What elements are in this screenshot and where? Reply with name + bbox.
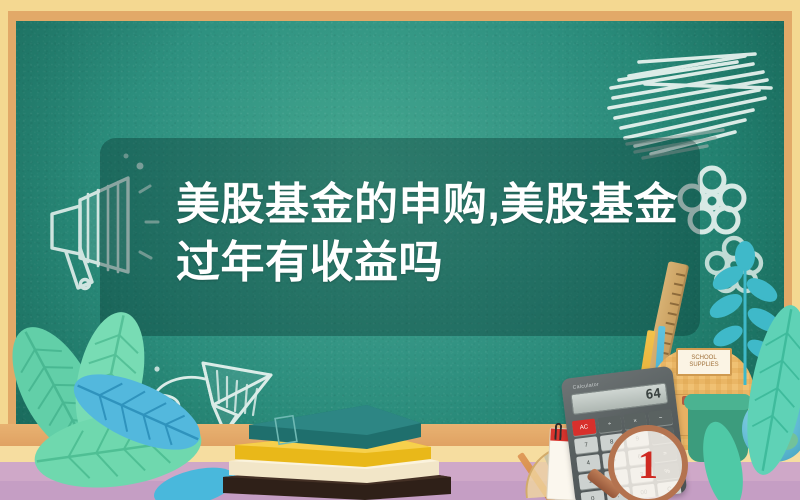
leaf-icon — [688, 420, 758, 500]
calculator-display-value: 64 — [645, 386, 662, 403]
calculator-key[interactable]: 0 — [581, 490, 605, 500]
magnifier-lens: 1 — [608, 425, 688, 500]
calculator-key[interactable]: AC — [572, 418, 596, 436]
page-title: 美股基金的申购,美股基金 过年有收益吗 — [176, 176, 696, 292]
magnifier-number: 1 — [638, 445, 658, 485]
stacked-books-icon — [215, 395, 455, 500]
calculator-brand: Calculator — [572, 382, 599, 391]
magnifier-icon: 1 — [608, 425, 688, 500]
calculator-key[interactable]: 7 — [574, 436, 598, 454]
thumbnail-canvas: 美股基金的申购,美股基金 过年有收益吗 — [0, 0, 800, 500]
